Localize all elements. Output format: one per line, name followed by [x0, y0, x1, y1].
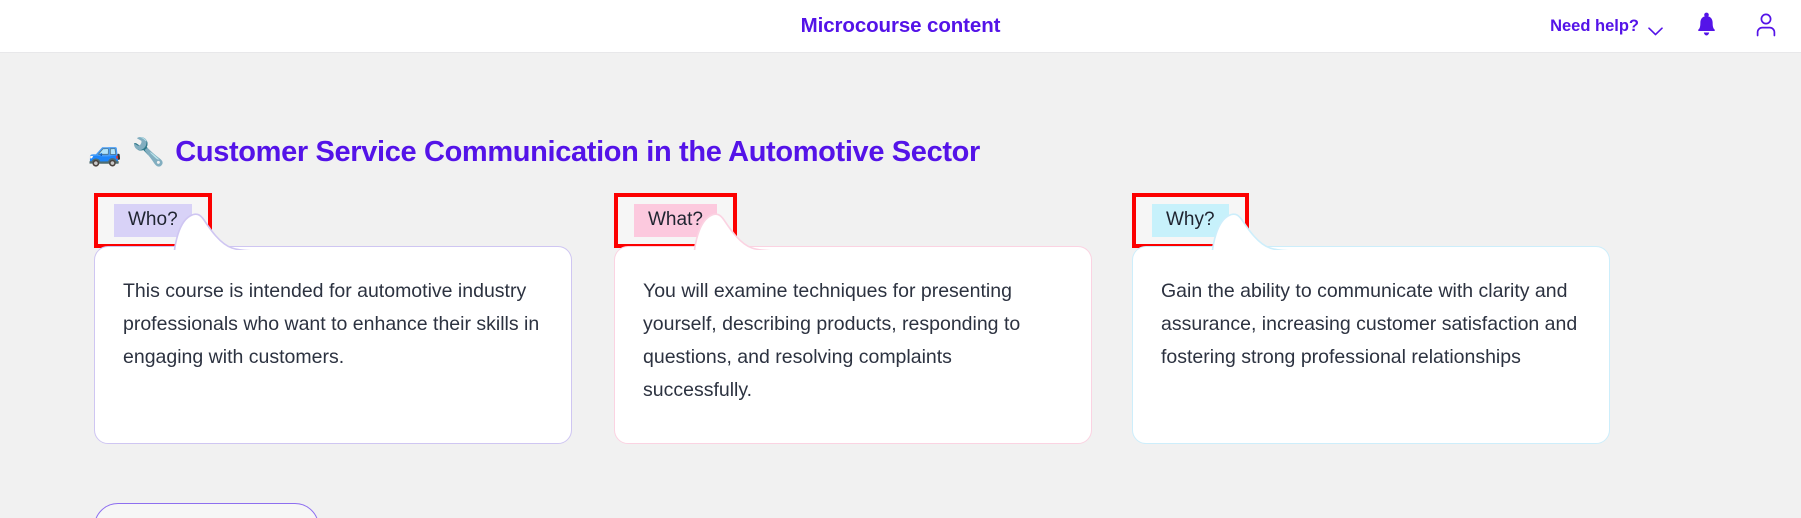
annotation-box-who: Who?	[94, 193, 212, 248]
bell-icon	[1695, 12, 1718, 42]
topbar-actions: Need help?	[1550, 0, 1783, 53]
need-help-menu[interactable]: Need help?	[1550, 17, 1663, 36]
account-icon	[1753, 11, 1779, 42]
top-bar: Microcourse content Need help?	[0, 0, 1801, 53]
card-bubble-why: Gain the ability to communicate with cla…	[1132, 246, 1610, 444]
page-title: Microcourse content	[801, 14, 1001, 38]
notifications-button[interactable]	[1689, 10, 1723, 44]
card-text-why: Gain the ability to communicate with cla…	[1161, 275, 1583, 374]
card-text-who: This course is intended for automotive i…	[123, 275, 545, 374]
card-label-why: Why?	[1152, 204, 1229, 237]
card-bubble-who: This course is intended for automotive i…	[94, 246, 572, 444]
need-help-label: Need help?	[1550, 17, 1639, 36]
account-button[interactable]	[1749, 10, 1783, 44]
annotation-box-what: What?	[614, 193, 737, 248]
annotation-box-why: Why?	[1132, 193, 1249, 248]
card-row: Who? This course is intended for automot…	[0, 193, 1801, 473]
change-microcourse-button[interactable]: Change microcourse	[94, 503, 319, 518]
course-title-text: Customer Service Communication in the Au…	[175, 136, 980, 169]
vehicle-icon: 🚙	[88, 139, 122, 166]
course-title: 🚙 🔧 Customer Service Communication in th…	[88, 136, 980, 169]
card-text-what: You will examine techniques for presenti…	[643, 275, 1065, 407]
card-label-who: Who?	[114, 204, 192, 237]
chevron-down-icon	[1648, 22, 1663, 31]
card-bubble-what: You will examine techniques for presenti…	[614, 246, 1092, 444]
wrench-icon: 🔧	[132, 139, 166, 166]
card-label-what: What?	[634, 204, 717, 237]
